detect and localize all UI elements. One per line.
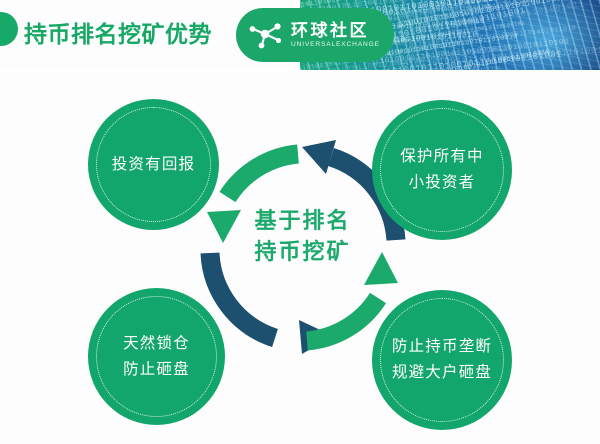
page-title: 持币排名挖矿优势 bbox=[24, 15, 212, 49]
slide-canvas: 1011010010110100101101001011010010110101… bbox=[0, 0, 600, 444]
bubble-top-right-text: 保护所有中 小投资者 bbox=[388, 144, 496, 196]
bubble-line: 保护所有中 bbox=[400, 144, 484, 170]
bubble-line: 天然锁仓 bbox=[123, 331, 190, 357]
bubble-line: 规避大户砸盘 bbox=[392, 360, 492, 386]
header-banner: 1011010010110100101101001011010010110101… bbox=[0, 0, 600, 72]
brand-logo[interactable]: 环球社区 UNIVERSALEXCHANGE bbox=[236, 8, 394, 62]
brand-name-cn: 环球社区 bbox=[291, 22, 380, 39]
bubble-bottom-right-text: 防止持币垄断 规避大户砸盘 bbox=[380, 334, 504, 386]
bubble-bottom-left[interactable]: 天然锁仓 防止砸盘 bbox=[88, 288, 225, 425]
brand-logo-text: 环球社区 UNIVERSALEXCHANGE bbox=[291, 22, 380, 49]
bubble-bottom-left-text: 天然锁仓 防止砸盘 bbox=[111, 331, 202, 383]
bubble-line: 防止砸盘 bbox=[123, 357, 190, 383]
bubble-line: 投资有回报 bbox=[112, 152, 196, 178]
brand-name-en: UNIVERSALEXCHANGE bbox=[291, 42, 380, 49]
cycle-center-line-2: 持币挖矿 bbox=[195, 236, 410, 267]
cycle-center-line-1: 基于排名 bbox=[195, 205, 410, 236]
bubble-top-left-text: 投资有回报 bbox=[100, 152, 208, 178]
bubble-line: 防止持币垄断 bbox=[392, 334, 492, 360]
bubble-line: 小投资者 bbox=[400, 170, 484, 196]
green-dot-icon bbox=[0, 12, 18, 46]
molecule-network-icon bbox=[248, 20, 282, 50]
bubble-bottom-right[interactable]: 防止持币垄断 规避大户砸盘 bbox=[372, 290, 512, 430]
header-divider bbox=[0, 70, 600, 72]
cycle-center-label: 基于排名 持币挖矿 bbox=[195, 205, 410, 267]
